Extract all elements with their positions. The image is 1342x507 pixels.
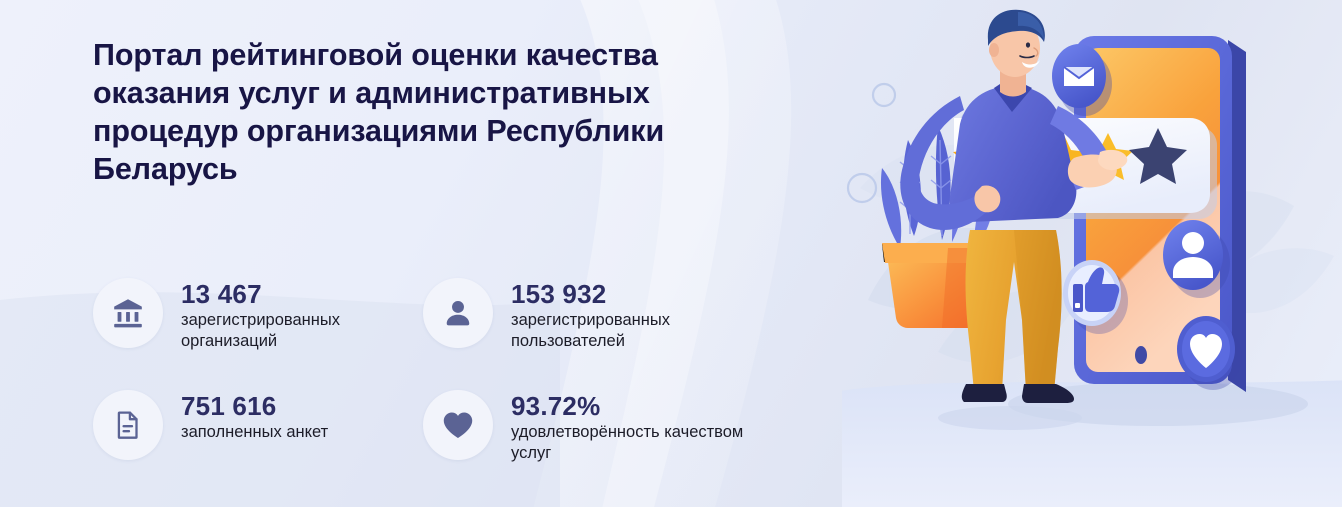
stat-body: 93.72% удовлетворённость качеством услуг — [511, 390, 751, 464]
stat-value: 13 467 — [181, 279, 421, 309]
stat-body: 13 467 зарегистрированных организаций — [181, 278, 421, 352]
stat-item-satisfaction: 93.72% удовлетворённость качеством услуг — [423, 390, 753, 502]
man-rating-phone-illustration — [842, 0, 1342, 507]
page-title: Портал рейтинговой оценки качества оказа… — [93, 36, 793, 188]
bank-icon — [93, 278, 163, 348]
user-badge-icon — [1163, 220, 1223, 290]
man-shadow — [938, 406, 1082, 430]
statistics-group: 13 467 зарегистрированных организаций 15… — [93, 278, 793, 502]
stat-value: 153 932 — [511, 279, 751, 309]
stat-item-forms: 751 616 заполненных анкет — [93, 390, 423, 502]
stat-body: 751 616 заполненных анкет — [181, 390, 328, 443]
heart-icon — [423, 390, 493, 460]
man-shoe-left — [962, 384, 1007, 402]
stat-item-organizations: 13 467 зарегистрированных организаций — [93, 278, 423, 390]
stat-label: заполненных анкет — [181, 422, 328, 443]
stat-body: 153 932 зарегистрированных пользователей — [511, 278, 751, 352]
stat-label: удовлетворённость качеством услуг — [511, 422, 751, 464]
man-ear — [989, 43, 999, 57]
hero-content: Портал рейтинговой оценки качества оказа… — [0, 0, 860, 507]
stat-item-users: 153 932 зарегистрированных пользователей — [423, 278, 753, 390]
document-icon — [93, 390, 163, 460]
stat-value: 93.72% — [511, 391, 751, 421]
stat-value: 751 616 — [181, 391, 328, 421]
stat-label: зарегистрированных организаций — [181, 310, 421, 352]
phone-home-indicator — [1135, 346, 1147, 364]
stat-label: зарегистрированных пользователей — [511, 310, 751, 352]
user-icon — [423, 278, 493, 348]
hero-banner: Портал рейтинговой оценки качества оказа… — [0, 0, 1342, 507]
